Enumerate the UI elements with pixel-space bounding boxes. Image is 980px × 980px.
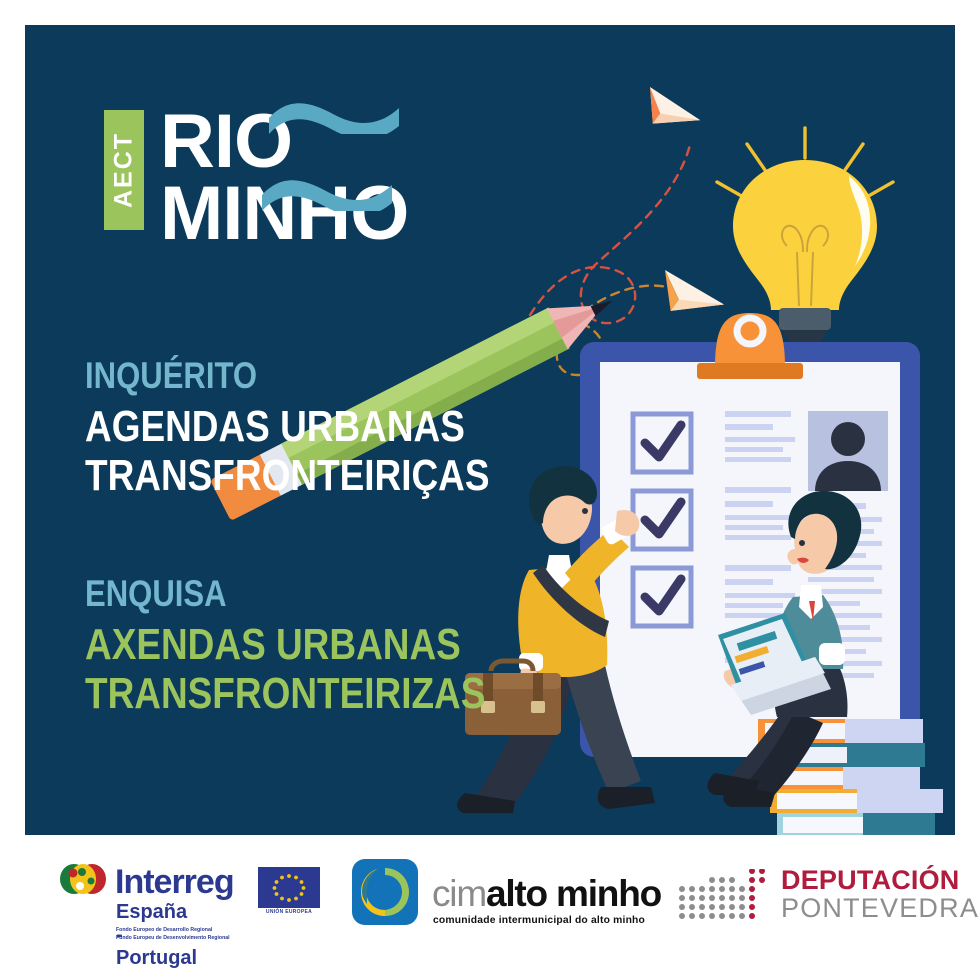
headline-line1-pt: AGENDAS URBANAS bbox=[85, 402, 490, 451]
logo-word-minho: MINHO bbox=[160, 176, 408, 252]
dashed-swirl-red bbox=[530, 145, 690, 323]
interreg-wordmark: Interreg bbox=[115, 863, 234, 902]
logo-interreg: Interreg España - Portugal Fondo Europeo… bbox=[58, 861, 108, 902]
paper-plane-icon bbox=[639, 87, 705, 137]
poster-panel: AECT RIO MINHO INQUÉRITO AGENDAS URBANAS… bbox=[25, 25, 955, 835]
headline-kicker-pt: INQUÉRITO bbox=[85, 355, 490, 398]
deputacion-wordmark: DEPUTACIÓN bbox=[781, 865, 960, 896]
interreg-mark-icon bbox=[58, 861, 108, 897]
paper-plane-icon-2 bbox=[655, 270, 729, 324]
cim-subtitle: comunidade intermunicipal do alto minho bbox=[433, 915, 645, 926]
brand-logo: AECT RIO MINHO bbox=[82, 80, 482, 250]
cim-word-bold: alto minho bbox=[486, 873, 661, 914]
logo-word-rio: RIO bbox=[160, 104, 292, 180]
aect-badge: AECT bbox=[104, 110, 144, 230]
eu-flag-icon bbox=[258, 867, 320, 908]
book-4 bbox=[770, 789, 943, 813]
deputacion-dots-icon bbox=[676, 869, 772, 925]
interreg-fineprint-pt: Fundo Europeu de Desenvolvimento Regiona… bbox=[116, 935, 230, 943]
interreg-fineprint: Fondo Europeo de Desarrollo Regional Fun… bbox=[116, 927, 230, 943]
headline-block-portuguese: INQUÉRITO AGENDAS URBANAS TRANSFRONTEIRI… bbox=[85, 355, 567, 500]
cim-tile-icon bbox=[352, 859, 418, 925]
headline-line1-gl: AXENDAS URBANAS bbox=[85, 620, 485, 669]
headline-line2-gl: TRANSFRONTEIRIZAS bbox=[85, 669, 485, 718]
cim-word-light: cim bbox=[432, 873, 486, 914]
avatar-photo bbox=[808, 411, 888, 491]
headline-kicker-gl: ENQUISA bbox=[85, 573, 485, 616]
eu-caption: UNIÓN EUROPEA bbox=[258, 909, 320, 915]
headline-line2-pt: TRANSFRONTEIRIÇAS bbox=[85, 451, 490, 500]
book-5 bbox=[777, 813, 935, 835]
headline-block-galician: ENQUISA AXENDAS URBANAS TRANSFRONTEIRIZA… bbox=[85, 573, 562, 718]
pontevedra-wordmark: PONTEVEDRA bbox=[781, 893, 979, 924]
interreg-fineprint-es: Fondo Europeo de Desarrollo Regional bbox=[116, 927, 230, 935]
poster-root: AECT RIO MINHO INQUÉRITO AGENDAS URBANAS… bbox=[0, 0, 980, 980]
footer-logos-bar: Interreg España - Portugal Fondo Europeo… bbox=[0, 843, 980, 980]
aect-badge-label: AECT bbox=[110, 132, 139, 208]
cim-wordmark: cimalto minho bbox=[432, 873, 661, 915]
